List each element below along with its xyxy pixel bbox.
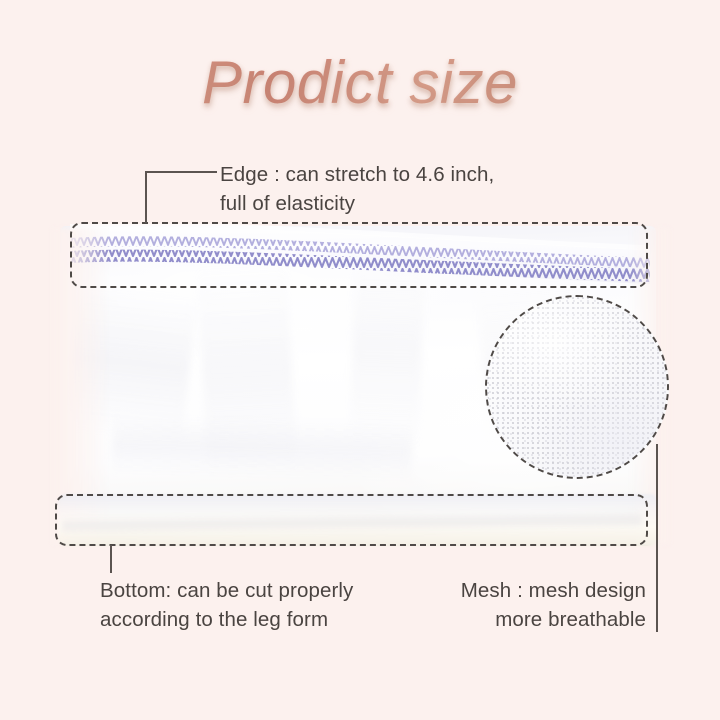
edge-leader-line-horizontal [145,171,217,173]
bottom-highlight-box [55,494,648,546]
mesh-texture [487,297,667,477]
product-size-infographic: Prodict size [0,0,720,720]
mesh-zoom-circle [485,295,669,479]
edge-callout-text: Edge : can stretch to 4.6 inch, full of … [220,160,560,218]
mesh-callout-text: Mesh : mesh design more breathable [418,576,646,634]
page-title: Prodict size [0,48,720,117]
edge-highlight-box [70,222,648,288]
edge-leader-line-vertical [145,171,147,223]
bottom-callout-text: Bottom: can be cut properly according to… [100,576,430,634]
